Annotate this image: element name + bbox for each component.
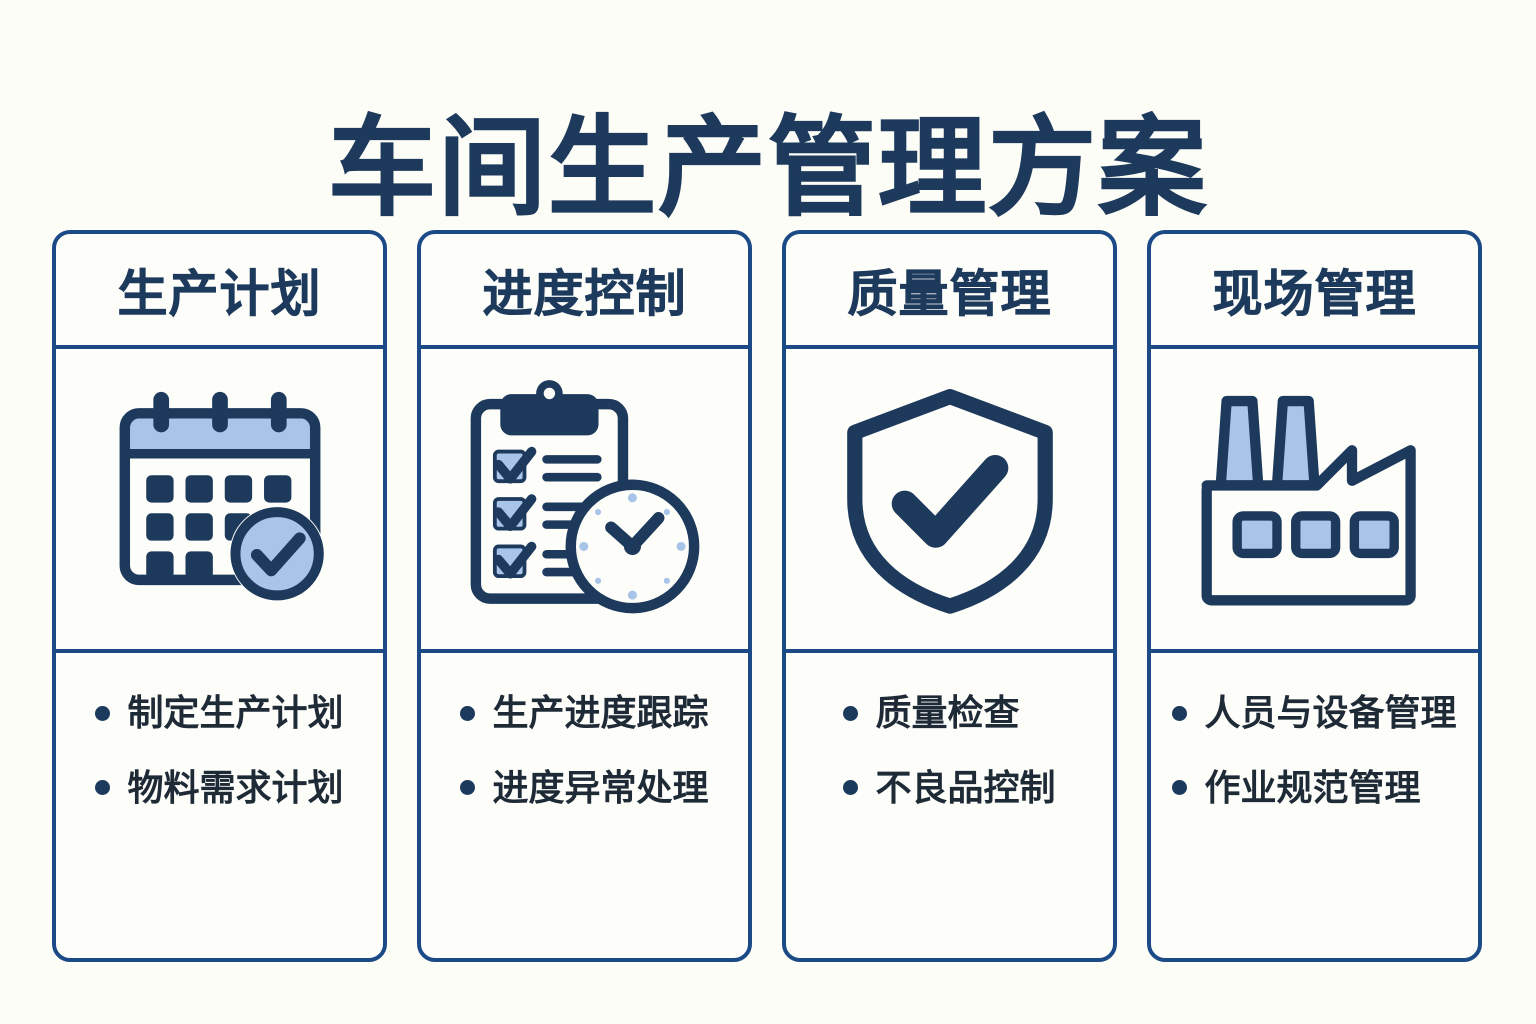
- card-icon-area: [1151, 349, 1478, 653]
- bullet-label: 作业规范管理: [1204, 764, 1420, 813]
- card-progress-control[interactable]: 进度控制: [417, 230, 752, 962]
- bullet-list: 制定生产计划 物料需求计划: [95, 689, 343, 838]
- bullet-label: 不良品控制: [875, 764, 1055, 813]
- bullet-label: 物料需求计划: [127, 764, 343, 813]
- factory-icon: [1192, 387, 1437, 612]
- card-body-production-plan: 制定生产计划 物料需求计划: [56, 653, 383, 958]
- card-header-quality-management: 质量管理: [786, 234, 1113, 349]
- clipboard-clock-icon: [464, 380, 706, 618]
- card-body-progress-control: 生产进度跟踪 进度异常处理: [421, 653, 748, 958]
- list-item: 质量检查: [843, 689, 1055, 738]
- card-body-quality-management: 质量检查 不良品控制: [786, 653, 1113, 958]
- card-title: 生产计划: [118, 254, 322, 326]
- bullet-label: 质量检查: [875, 689, 1019, 738]
- card-title: 质量管理: [848, 254, 1052, 326]
- bullet-dot-icon: [843, 780, 858, 795]
- card-icon-area: [421, 349, 748, 653]
- list-item: 物料需求计划: [95, 764, 343, 813]
- bullet-list: 人员与设备管理 作业规范管理: [1172, 689, 1456, 838]
- bullet-list: 生产进度跟踪 进度异常处理: [460, 689, 708, 838]
- list-item: 作业规范管理: [1172, 764, 1456, 813]
- list-item: 人员与设备管理: [1172, 689, 1456, 738]
- card-quality-management[interactable]: 质量管理 质量检查 不良品控制: [782, 230, 1117, 962]
- bullet-dot-icon: [843, 706, 858, 721]
- card-title: 现场管理: [1213, 254, 1417, 326]
- card-header-production-plan: 生产计划: [56, 234, 383, 349]
- calendar-check-icon: [101, 380, 339, 618]
- bullet-list: 质量检查 不良品控制: [843, 689, 1055, 838]
- list-item: 不良品控制: [843, 764, 1055, 813]
- page-title: 车间生产管理方案: [328, 108, 1208, 229]
- shield-check-icon: [831, 380, 1069, 618]
- list-item: 进度异常处理: [460, 764, 708, 813]
- card-site-management[interactable]: 现场管理: [1147, 230, 1482, 962]
- bullet-label: 人员与设备管理: [1204, 689, 1456, 738]
- bullet-label: 进度异常处理: [492, 764, 708, 813]
- card-icon-area: [56, 349, 383, 653]
- card-header-site-management: 现场管理: [1151, 234, 1478, 349]
- card-header-progress-control: 进度控制: [421, 234, 748, 349]
- bullet-dot-icon: [460, 780, 475, 795]
- list-item: 制定生产计划: [95, 689, 343, 738]
- bullet-dot-icon: [1172, 706, 1187, 721]
- infographic-page: 车间生产管理方案 生产计划: [0, 0, 1536, 1024]
- bullet-label: 生产进度跟踪: [492, 689, 708, 738]
- cards-grid: 生产计划: [52, 230, 1482, 962]
- bullet-label: 制定生产计划: [127, 689, 343, 738]
- bullet-dot-icon: [95, 780, 110, 795]
- list-item: 生产进度跟踪: [460, 689, 708, 738]
- bullet-dot-icon: [95, 706, 110, 721]
- card-body-site-management: 人员与设备管理 作业规范管理: [1151, 653, 1478, 958]
- card-icon-area: [786, 349, 1113, 653]
- bullet-dot-icon: [460, 706, 475, 721]
- card-title: 进度控制: [483, 254, 687, 326]
- bullet-dot-icon: [1172, 780, 1187, 795]
- card-production-plan[interactable]: 生产计划: [52, 230, 387, 962]
